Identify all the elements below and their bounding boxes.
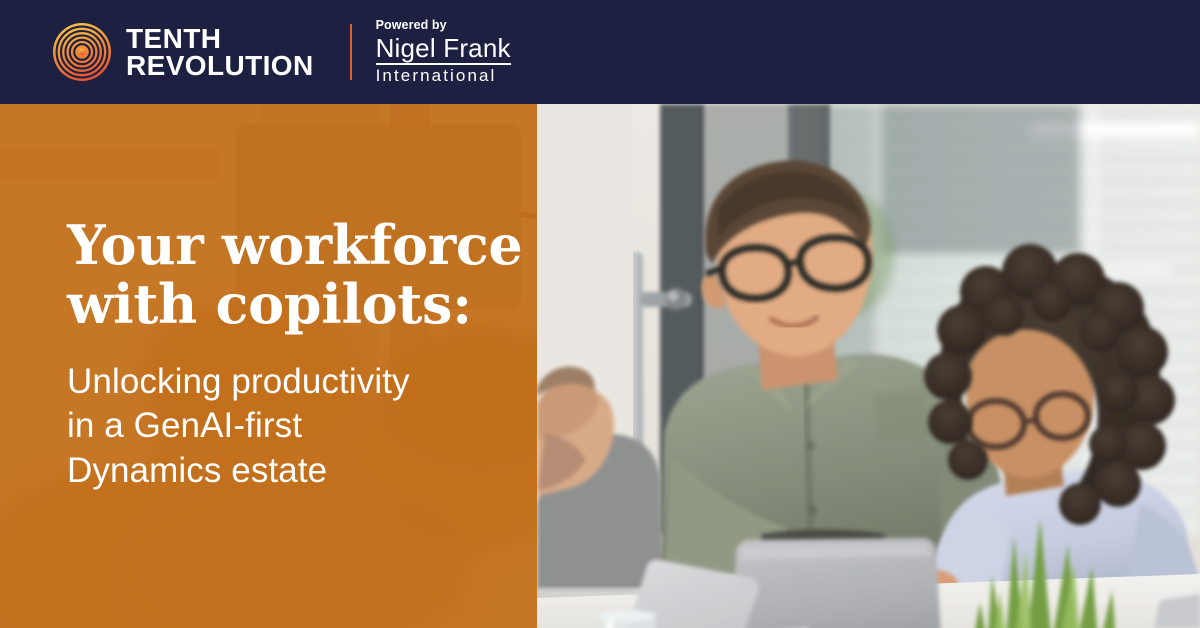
brand-divider: [350, 24, 352, 80]
headline-line-1: Your workforce: [67, 216, 527, 275]
brand-wordmark: TENTH REVOLUTION: [126, 25, 314, 80]
brand-line-1: TENTH: [126, 25, 314, 52]
page-title: Your workforce with copilots:: [67, 216, 527, 334]
partner-lockup: Powered by Nigel Frank International: [376, 19, 511, 85]
brand-line-2: REVOLUTION: [126, 52, 314, 79]
promo-banner: Your workforce with copilots: Unlocking …: [0, 0, 1200, 628]
powered-by-label: Powered by: [376, 19, 511, 32]
header-bar: TENTH REVOLUTION Powered by Nigel Frank …: [0, 0, 1200, 104]
partner-name: Nigel Frank: [376, 35, 511, 65]
brand-lockup: TENTH REVOLUTION Powered by Nigel Frank …: [52, 18, 511, 86]
subhead-line-1: Unlocking productivity: [67, 360, 527, 404]
concentric-circles-logo-icon: [52, 22, 112, 82]
orange-copy-panel: Your workforce with copilots: Unlocking …: [0, 104, 537, 628]
subhead-line-2: in a GenAI-first: [67, 404, 527, 448]
headline-line-2: with copilots:: [67, 275, 527, 334]
partner-subtitle: International: [376, 67, 511, 85]
page-subtitle: Unlocking productivity in a GenAI-first …: [67, 360, 527, 493]
subhead-line-3: Dynamics estate: [67, 449, 527, 493]
panel-copy: Your workforce with copilots: Unlocking …: [67, 216, 527, 493]
